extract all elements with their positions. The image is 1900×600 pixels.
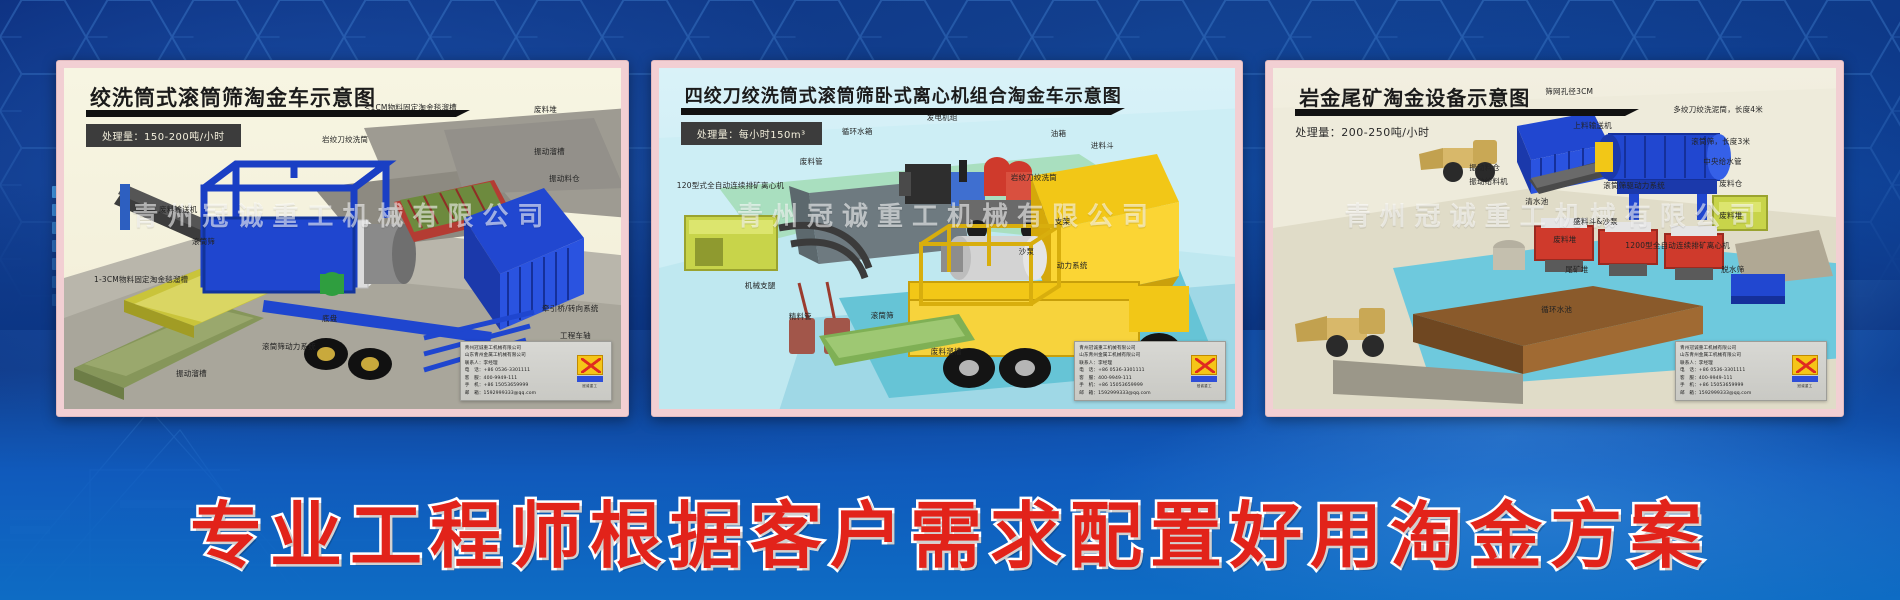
contact-card: 青州冠诚重工机械有限公司 山东青州金属工机械有限公司 联系人：李经理 电 话：+… (1074, 341, 1226, 401)
contact-row: 邮 箱：1592999333@qq.com (1079, 390, 1187, 397)
callout-label: 滚筒筛驱动力系统 (1603, 180, 1665, 191)
callout-label: 滚筒筛 (192, 236, 215, 247)
panel-1-title-rule (86, 110, 456, 117)
callout-label: 循环水池 (1541, 304, 1572, 315)
callout-label: 沙泵 (1019, 246, 1034, 257)
callout-label: 1200型全自动连续排矿离心机 (1625, 240, 1730, 251)
callout-label: 振动料仓 (549, 173, 580, 184)
callout-label: 尾矿堆 (1565, 264, 1588, 275)
callout-label: 工程车轴 (560, 330, 591, 341)
logo-bar (1191, 376, 1217, 382)
callout-label: 筛网孔径3CM (1545, 86, 1593, 97)
callout-label: 废料仓 (1719, 178, 1742, 189)
logo-bar (1792, 376, 1818, 382)
callout-label: 废料管 (800, 156, 823, 167)
callout-label: 精料管 (789, 311, 812, 322)
panel-3-capacity-text: 处理量：200-250吨/小时 (1295, 124, 1429, 140)
callout-label: 废料堆 (534, 104, 557, 115)
panel-2-capacity-badge: 处理量：每小时150m³ (681, 122, 822, 145)
main-headline: 专业工程师根据客户需求配置好用淘金方案 (0, 477, 1900, 582)
logo-label: 冠诚重工 (582, 383, 597, 388)
panel-1-title: 绞洗筒式滚筒筛淘金车示意图 (90, 82, 376, 112)
callout-label: 废料输送机 (159, 204, 198, 215)
callout-label: 牵引桥/转向系统 (542, 303, 599, 314)
panel-3-title-rule (1295, 109, 1625, 116)
callout-label: 油箱 (1051, 128, 1066, 139)
contact-card-text: 青州冠诚重工机械有限公司 山东青州金属工机械有限公司 联系人：李经理 电 话：+… (1079, 345, 1187, 397)
callout-label: 1-3CM物料固定淘金毯溜槽 (94, 274, 188, 285)
contact-company: 青州冠诚重工机械有限公司 (1680, 345, 1788, 352)
company-logo: 冠诚重工 (1788, 345, 1822, 397)
callout-label: 支架 (1055, 216, 1070, 227)
panel-1-capacity-badge: 处理量：150-200吨/小时 (86, 124, 241, 147)
callout-label: 脱水筛 (1721, 264, 1744, 275)
callout-label: 废料堆 (1719, 210, 1742, 221)
contact-row: 联系人：李经理 (1680, 360, 1788, 367)
main-headline-text: 专业工程师根据客户需求配置好用淘金方案 (190, 477, 1710, 582)
callout-label: 清水池 (1525, 196, 1548, 207)
contact-card-text: 青州冠诚重工机械有限公司 山东青州金属工机械有限公司 联系人：李经理 电 话：+… (465, 345, 573, 397)
callout-label: 盛料斗&沙泵 (1573, 216, 1618, 227)
contact-row: 联系人：李经理 (1079, 360, 1187, 367)
contact-row: 手 机：+86 15053659999 (465, 382, 573, 389)
logo-label: 冠诚重工 (1197, 383, 1212, 388)
contact-row: 手 机：+86 15053659999 (1079, 382, 1187, 389)
contact-row: 客 服：400-9949-111 (1079, 375, 1187, 382)
callout-label: 振动给料机 (1469, 176, 1508, 187)
diagram-panel-3[interactable]: 青州冠诚重工机械有限公司 岩金尾矿淘金设备示意图 处理量：200-250吨/小时… (1265, 60, 1844, 417)
crown-icon (577, 355, 603, 375)
contact-company-alt: 山东青州金属工机械有限公司 (1680, 352, 1788, 359)
contact-card: 青州冠诚重工机械有限公司 山东青州金属工机械有限公司 联系人：李经理 电 话：+… (460, 341, 612, 401)
callout-label: 滚筒筛 (871, 310, 894, 321)
callout-label: 进料斗 (1091, 140, 1114, 151)
contact-row: 手 机：+86 15053659999 (1680, 382, 1788, 389)
crown-icon (1191, 355, 1217, 375)
panel-2-title: 四绞刀绞洗筒式滚筒筛卧式离心机组合淘金车示意图 (685, 82, 1122, 108)
contact-card-text: 青州冠诚重工机械有限公司 山东青州金属工机械有限公司 联系人：李经理 电 话：+… (1680, 345, 1788, 397)
callout-label: 120型式全自动连续排矿离心机 (677, 180, 784, 191)
callout-label: 中央给水管 (1703, 156, 1742, 167)
contact-company-alt: 山东青州金属工机械有限公司 (465, 352, 573, 359)
contact-row: 电 话：+86 0536-3301111 (1680, 367, 1788, 374)
callout-label: 循环水箱 (842, 126, 873, 137)
diagram-panels-row: 青州冠诚重工机械有限公司 绞洗筒式滚筒筛淘金车示意图 处理量：150-200吨/… (0, 60, 1900, 430)
contact-company: 青州冠诚重工机械有限公司 (465, 345, 573, 352)
contact-row: 邮 箱：1592999333@qq.com (465, 390, 573, 397)
logo-label: 冠诚重工 (1797, 383, 1812, 388)
callout-label: 滚筒筛，长度3米 (1691, 136, 1750, 147)
callout-label: 岩绞刀绞洗筒 (1011, 172, 1057, 183)
callout-label: 动力系统 (1057, 260, 1088, 271)
callout-label: 振动料仓 (1469, 162, 1500, 173)
panel-2-title-rule (681, 108, 1111, 115)
diagram-panel-1[interactable]: 青州冠诚重工机械有限公司 绞洗筒式滚筒筛淘金车示意图 处理量：150-200吨/… (56, 60, 629, 417)
callout-label: 废料堆 (1553, 234, 1576, 245)
contact-row: 电 话：+86 0536-3301111 (465, 367, 573, 374)
contact-row: 客 服：400-9949-111 (465, 375, 573, 382)
callout-label: 机械支腿 (745, 280, 776, 291)
diagram-panel-2[interactable]: 青州冠诚重工机械有限公司 四绞刀绞洗筒式滚筒筛卧式离心机组合淘金车示意图 处理量… (651, 60, 1244, 417)
callout-label: 上料输送机 (1573, 120, 1612, 131)
contact-company: 青州冠诚重工机械有限公司 (1079, 345, 1187, 352)
callout-label: 底盘 (322, 313, 337, 324)
contact-row: 邮 箱：1592999333@qq.com (1680, 390, 1788, 397)
company-logo: 冠诚重工 (1187, 345, 1221, 397)
callout-label: 滚筒筛动力系统 (262, 341, 316, 352)
callout-label: 岩绞刀绞洗筒 (322, 134, 368, 145)
callout-label: 废料溜槽 (931, 346, 962, 357)
callout-label: 多绞刀绞洗泥筒，长度4米 (1673, 104, 1763, 115)
crown-icon (1792, 355, 1818, 375)
contact-row: 客 服：400-9949-111 (1680, 375, 1788, 382)
company-logo: 冠诚重工 (573, 345, 607, 397)
callout-label: 振动溜槽 (176, 368, 207, 379)
contact-company-alt: 山东青州金属工机械有限公司 (1079, 352, 1187, 359)
callout-label: 振动溜槽 (534, 146, 565, 157)
contact-row: 电 话：+86 0536-3301111 (1079, 367, 1187, 374)
contact-row: 联系人：李经理 (465, 360, 573, 367)
panel-3-title: 岩金尾矿淘金设备示意图 (1299, 82, 1530, 111)
logo-bar (577, 376, 603, 382)
contact-card: 青州冠诚重工机械有限公司 山东青州金属工机械有限公司 联系人：李经理 电 话：+… (1675, 341, 1827, 401)
